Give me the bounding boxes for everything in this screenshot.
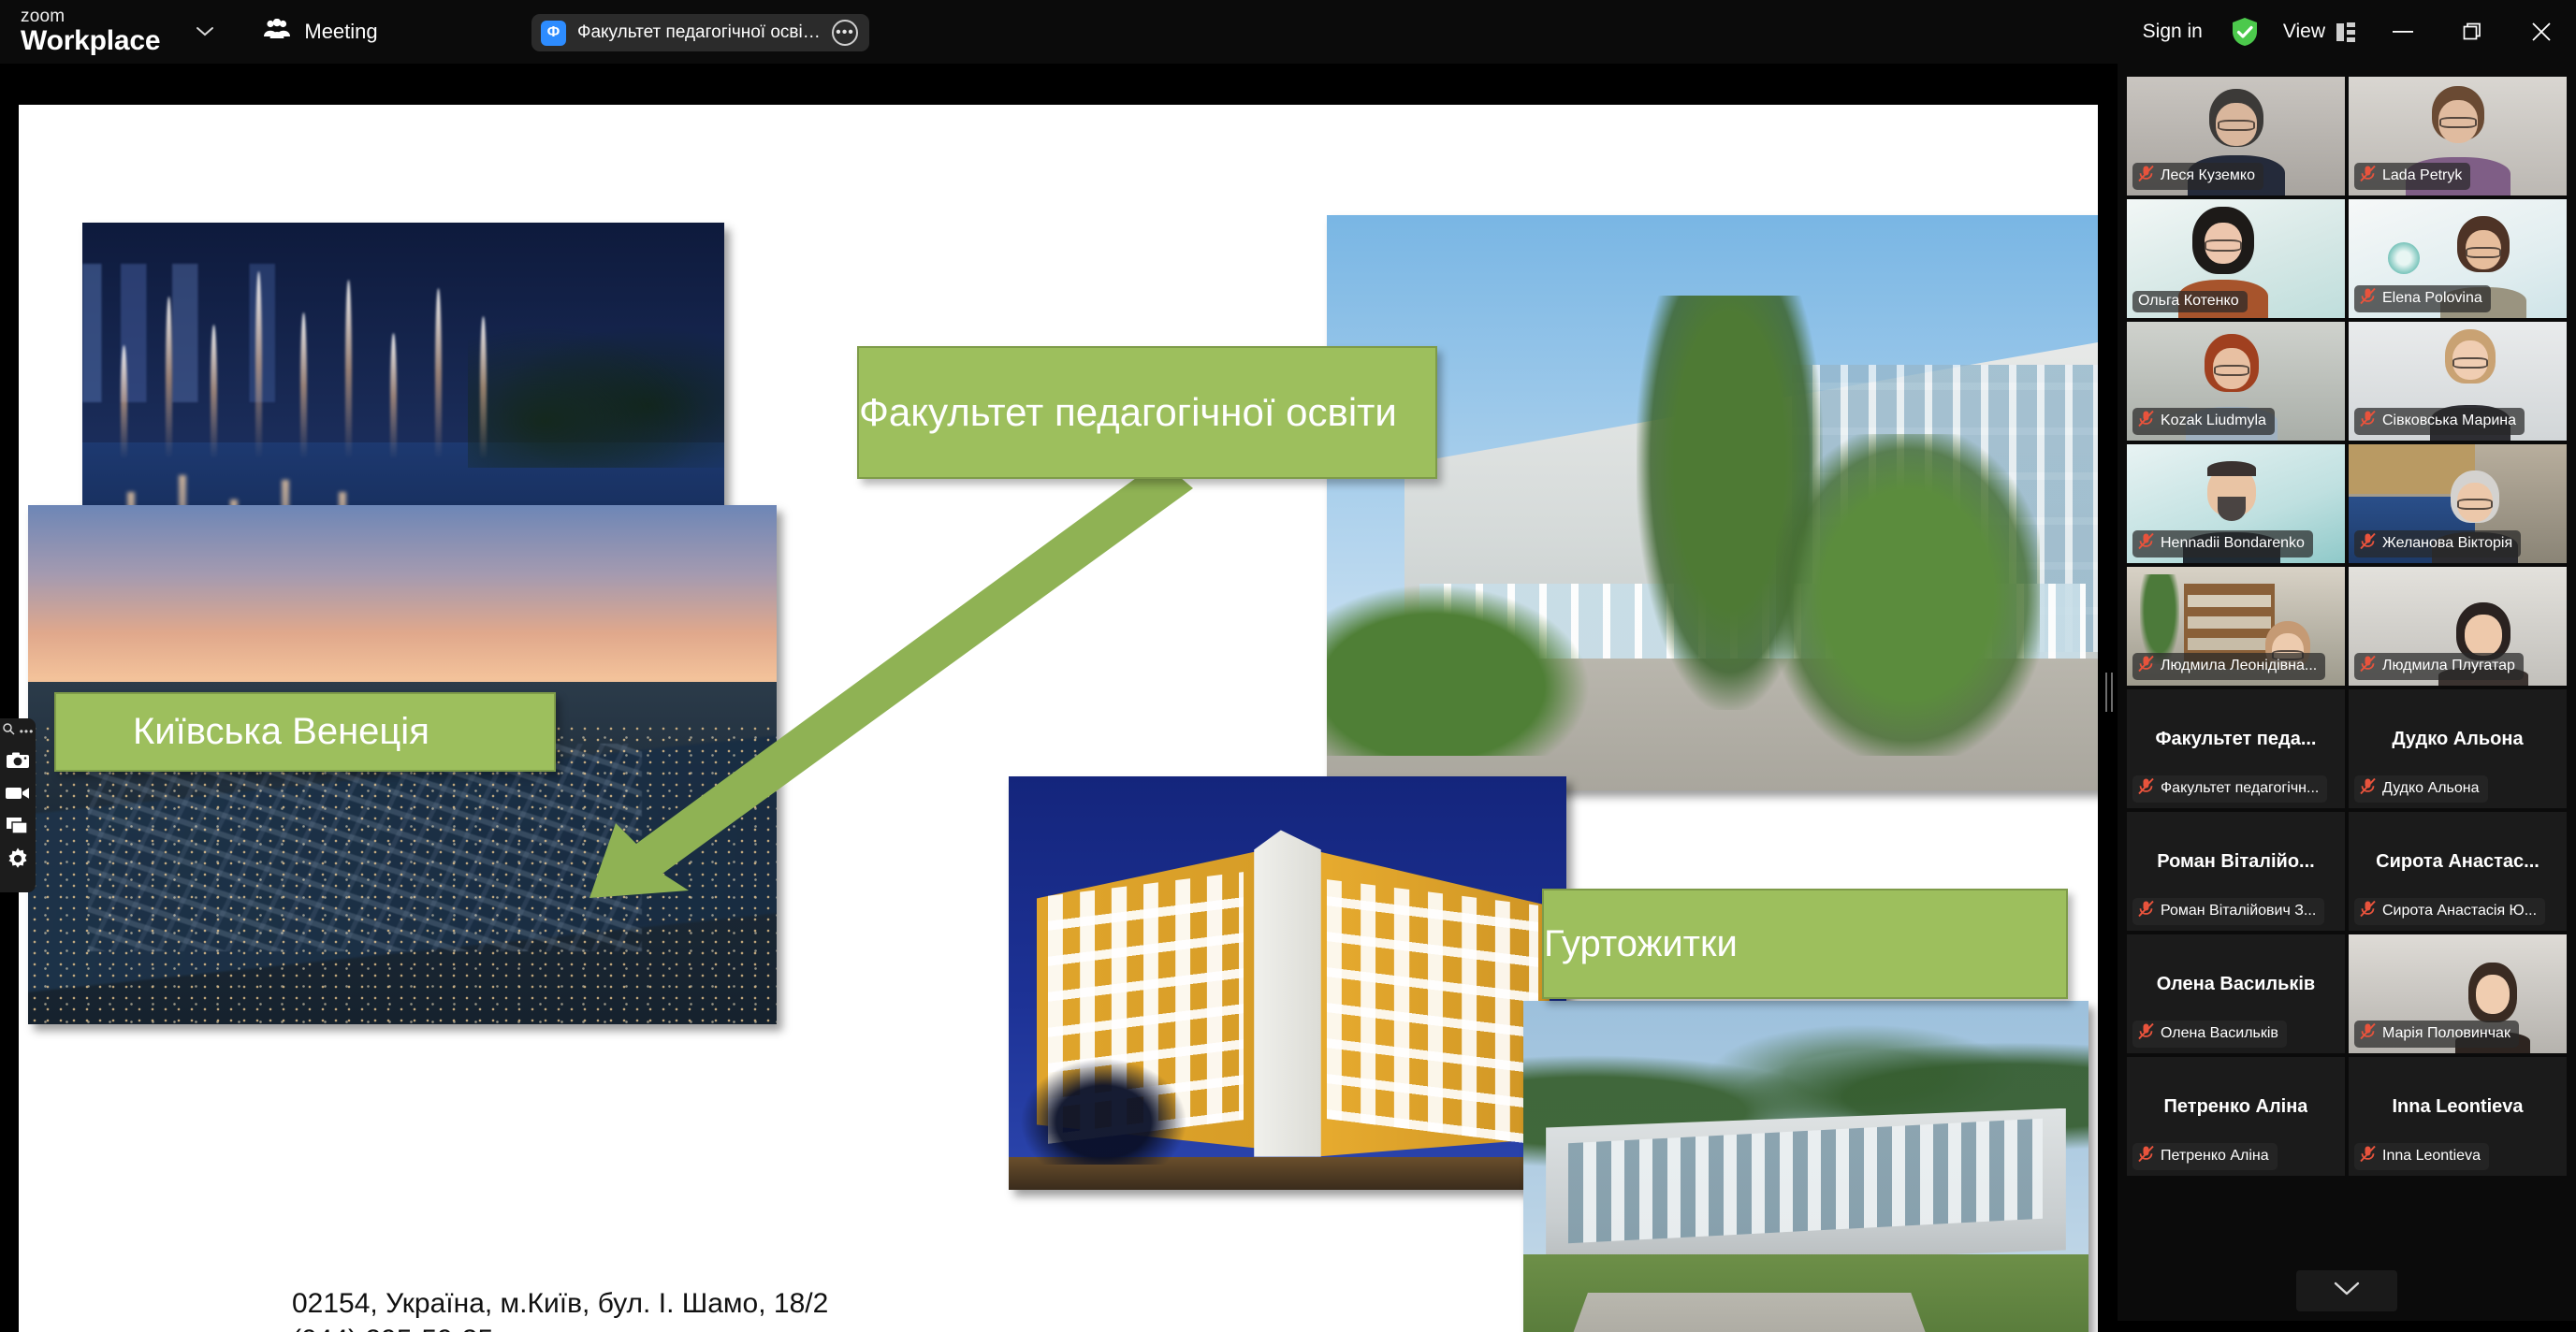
muted-microphone-icon (2360, 532, 2376, 555)
participant-name: Факультет педагогічн... (2161, 780, 2319, 797)
video-tile[interactable]: Kozak Liudmyla (2127, 322, 2345, 441)
name-badge: Kozak Liudmyla (2132, 408, 2275, 435)
tab-favicon-icon: Ф (541, 21, 566, 46)
participant-name: Петренко Аліна (2161, 1148, 2269, 1165)
participant-name: Hennadii Bondarenko (2161, 535, 2305, 552)
label-venice: Київська Венеція (54, 692, 556, 772)
label-venice-text: Київська Венеція (133, 711, 554, 753)
muted-microphone-icon (2360, 410, 2376, 432)
view-label: View (2283, 21, 2325, 43)
participant-name: Людмила Плугатар (2382, 658, 2515, 674)
video-tile[interactable]: Lada Petryk (2349, 77, 2567, 195)
titlebar-right-controls: Sign in View (2126, 0, 2576, 64)
name-badge: Ольга Котенко (2132, 291, 2248, 312)
resize-handle[interactable] (2101, 64, 2118, 1321)
participant-name: Леся Куземко (2161, 167, 2255, 184)
name-badge: Олена Васильків (2132, 1021, 2287, 1048)
gear-icon[interactable] (5, 846, 31, 872)
scroll-down-button[interactable] (2296, 1270, 2397, 1311)
contact-phone: (044) 295-59-35 (292, 1322, 828, 1332)
label-faculty-text: Факультет педагогічної освіти (859, 390, 1435, 435)
video-tile[interactable]: Леся Куземко (2127, 77, 2345, 195)
video-tile-grid: Леся Куземко Lada Petryk Ольга Коте (2127, 77, 2567, 686)
restore-button[interactable] (2438, 0, 2507, 64)
participant-name: Роман Віталійович З... (2161, 903, 2316, 919)
participant-name: Людмила Леонідівна... (2161, 658, 2317, 674)
shared-screen-stage: Факультет педагогічної освіти Київська В… (0, 64, 2101, 1321)
label-dormitories-text: Гуртожитки (1544, 923, 2066, 965)
participant-name: Lada Petryk (2382, 167, 2462, 184)
participant-name: Дудко Альона (2382, 780, 2480, 797)
name-badge: Elena Polovina (2354, 285, 2491, 312)
participant-display-name: Дудко Альона (2392, 729, 2523, 750)
view-button[interactable]: View (2270, 21, 2368, 43)
muted-microphone-icon (2138, 777, 2154, 800)
video-tile[interactable]: Сівковська Марина (2349, 322, 2567, 441)
modular-dormitory-photo (1523, 1001, 2088, 1332)
name-badge: Людмила Плугатар (2354, 653, 2524, 680)
muted-microphone-icon (2138, 532, 2154, 555)
tab-more-icon[interactable]: ••• (832, 20, 858, 46)
presentation-slide: Факультет педагогічної освіти Київська В… (19, 105, 2098, 1332)
audio-tile-grid: Факультет педа... Факультет педагогічн..… (2127, 689, 2567, 1176)
name-badge: Людмила Леонідівна... (2132, 653, 2325, 680)
name-badge: Факультет педагогічн... (2132, 775, 2327, 803)
green-arrow (505, 451, 1198, 900)
sign-in-button[interactable]: Sign in (2126, 21, 2219, 43)
label-dormitories: Гуртожитки (1542, 889, 2068, 999)
video-tile-active-speaker[interactable]: Ольга Котенко (2127, 199, 2345, 318)
tab-title: Факультет педагогічної освіти - (577, 22, 821, 43)
audio-tile[interactable]: Факультет педа... Факультет педагогічн..… (2127, 689, 2345, 808)
participant-name: Сівковська Марина (2382, 413, 2516, 429)
brand-workplace-text: Workplace (21, 26, 160, 56)
browser-tab[interactable]: Ф Факультет педагогічної освіти - ••• (531, 14, 869, 51)
participant-name: Желанова Вікторія (2382, 535, 2512, 552)
muted-microphone-icon (2360, 900, 2376, 922)
video-tile[interactable]: Людмила Плугатар (2349, 567, 2567, 686)
video-tile[interactable]: Hennadii Bondarenko (2127, 444, 2345, 563)
participant-name: Марія Половинчак (2382, 1025, 2511, 1042)
chevron-down-icon (2333, 1281, 2361, 1302)
audio-tile[interactable]: Дудко Альона Дудко Альона (2349, 689, 2567, 808)
contact-address: 02154, Україна, м.Київ, бул. І. Шамо, 18… (292, 1285, 828, 1322)
chevron-down-icon[interactable] (192, 19, 218, 45)
participant-name: Ольга Котенко (2138, 293, 2239, 310)
muted-microphone-icon (2138, 410, 2154, 432)
zoom-brand: zoom Workplace (21, 7, 160, 55)
muted-microphone-icon (2360, 777, 2376, 800)
minimize-button[interactable] (2368, 0, 2438, 64)
participant-name: Олена Васильків (2161, 1025, 2278, 1042)
name-badge: Марія Половинчак (2354, 1021, 2519, 1048)
participant-display-name: Олена Васильків (2157, 974, 2315, 995)
participant-display-name: Факультет педа... (2155, 729, 2316, 750)
faculty-building-photo (1327, 215, 2098, 790)
participant-display-name: Петренко Аліна (2164, 1096, 2308, 1118)
close-button[interactable] (2507, 0, 2576, 64)
name-badge: Роман Віталійович З... (2132, 898, 2324, 925)
participant-display-name: Inna Leontieva (2392, 1096, 2523, 1118)
camera-icon[interactable] (5, 747, 31, 774)
windows-icon[interactable] (5, 813, 31, 839)
muted-microphone-icon (2360, 1022, 2376, 1045)
participant-name: Inna Leontieva (2382, 1148, 2481, 1165)
layout-icon (2336, 22, 2355, 42)
title-bar: zoom Workplace Meeting Ф Факультет педаг… (0, 0, 2576, 64)
muted-microphone-icon (2138, 1145, 2154, 1167)
participant-name: Сирота Анастасія Ю... (2382, 903, 2537, 919)
audio-tile[interactable]: Петренко Аліна Петренко Аліна (2127, 1057, 2345, 1176)
muted-microphone-icon (2138, 165, 2154, 187)
annotate-icon[interactable] (2, 722, 16, 741)
meeting-button[interactable]: Meeting (263, 19, 377, 45)
label-faculty: Факультет педагогічної освіти (857, 346, 1437, 479)
muted-microphone-icon (2360, 655, 2376, 677)
participant-name: Elena Polovina (2382, 290, 2482, 307)
video-icon[interactable] (5, 780, 31, 806)
grip-icon (2105, 673, 2113, 712)
audio-tile[interactable]: Роман Віталійо... Роман Віталійович З... (2127, 812, 2345, 931)
muted-microphone-icon (2138, 900, 2154, 922)
audio-tile[interactable]: Сирота Анастас... Сирота Анастасія Ю... (2349, 812, 2567, 931)
name-badge: Дудко Альона (2354, 775, 2488, 803)
green-shield-check-icon[interactable] (2229, 16, 2261, 48)
video-tile[interactable]: Людмила Леонідівна... (2127, 567, 2345, 686)
people-icon (263, 19, 291, 45)
name-badge: Hennadii Bondarenko (2132, 530, 2313, 557)
floating-toolbar[interactable]: ••• (0, 718, 36, 892)
audio-tile[interactable]: Олена Васильків Олена Васильків (2127, 934, 2345, 1053)
name-badge: Сирота Анастасія Ю... (2354, 898, 2545, 925)
muted-microphone-icon (2138, 655, 2154, 677)
muted-microphone-icon (2138, 1022, 2154, 1045)
participant-display-name: Роман Віталійо... (2157, 851, 2314, 873)
muted-microphone-icon (2360, 165, 2376, 187)
muted-microphone-icon (2360, 1145, 2376, 1167)
participant-display-name: Сирота Анастас... (2376, 851, 2540, 873)
name-badge: Петренко Аліна (2132, 1143, 2278, 1170)
muted-microphone-icon (2360, 287, 2376, 310)
name-badge: Inna Leontieva (2354, 1143, 2489, 1170)
name-badge: Леся Куземко (2132, 163, 2263, 190)
brand-zoom-text: zoom (21, 7, 160, 26)
meeting-label: Meeting (304, 20, 377, 44)
name-badge: Lada Petryk (2354, 163, 2470, 190)
video-tile[interactable]: Желанова Вікторія (2349, 444, 2567, 563)
participant-panel: Леся Куземко Lada Petryk Ольга Коте (2118, 64, 2576, 1321)
audio-tile[interactable]: Inna Leontieva Inna Leontieva (2349, 1057, 2567, 1176)
participant-name: Kozak Liudmyla (2161, 413, 2266, 429)
video-tile[interactable]: Elena Polovina (2349, 199, 2567, 318)
name-badge: Желанова Вікторія (2354, 530, 2521, 557)
name-badge: Сівковська Марина (2354, 408, 2525, 435)
contact-block: 02154, Україна, м.Київ, бул. І. Шамо, 18… (292, 1285, 828, 1332)
video-tile[interactable]: Марія Половинчак (2349, 934, 2567, 1053)
